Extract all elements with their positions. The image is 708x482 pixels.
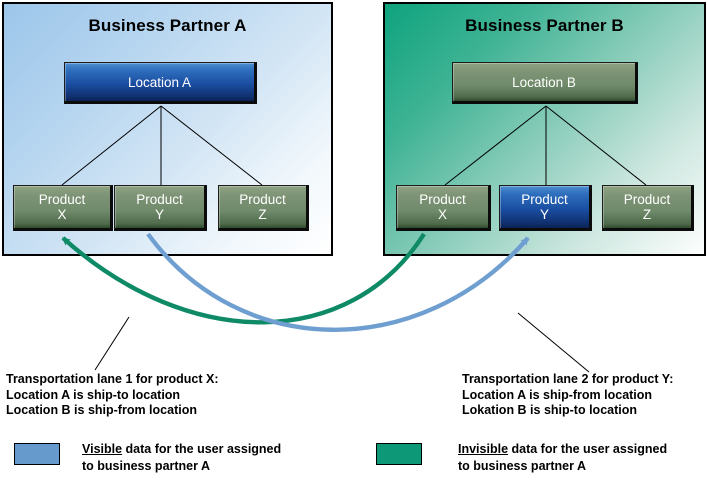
legend-label-visible: Visible data for the user assigned to bu…: [82, 441, 281, 475]
node-location-b[interactable]: Location B: [452, 62, 638, 104]
panel-title-a: Business Partner A: [4, 16, 331, 36]
node-partner-a-product-x[interactable]: ProductX: [13, 185, 113, 231]
node-label: ProductX: [419, 192, 466, 222]
node-partner-b-product-y[interactable]: ProductY: [499, 185, 592, 231]
node-location-a[interactable]: Location A: [64, 62, 257, 104]
diagram-canvas: Business Partner A Location A ProductX P…: [0, 0, 708, 482]
node-partner-a-product-y[interactable]: ProductY: [114, 185, 207, 231]
node-label: ProductX: [39, 192, 86, 222]
legend-swatch-invisible: [376, 443, 422, 465]
legend-label-invisible: Invisible data for the user assigned to …: [458, 441, 667, 475]
caption-transportation-lane-2: Transportation lane 2 for product Y: Loc…: [462, 372, 673, 419]
node-label: ProductY: [136, 192, 183, 222]
panel-title-b: Business Partner B: [385, 16, 704, 36]
node-partner-b-product-z[interactable]: ProductZ: [602, 185, 694, 231]
leader-line-left: [95, 317, 129, 370]
legend-emphasis-invisible: Invisible: [458, 442, 508, 456]
node-partner-b-product-x[interactable]: ProductX: [396, 185, 491, 231]
legend-swatch-visible: [14, 443, 60, 465]
node-partner-a-product-z[interactable]: ProductZ: [218, 185, 309, 231]
node-label: ProductZ: [239, 192, 286, 222]
leader-line-right: [518, 313, 589, 372]
legend-emphasis-visible: Visible: [82, 442, 122, 456]
node-label: Location B: [512, 75, 576, 90]
caption-transportation-lane-1: Transportation lane 1 for product X: Loc…: [6, 372, 219, 419]
node-label: Location A: [128, 75, 191, 90]
node-label: ProductY: [521, 192, 568, 222]
node-label: ProductZ: [624, 192, 671, 222]
